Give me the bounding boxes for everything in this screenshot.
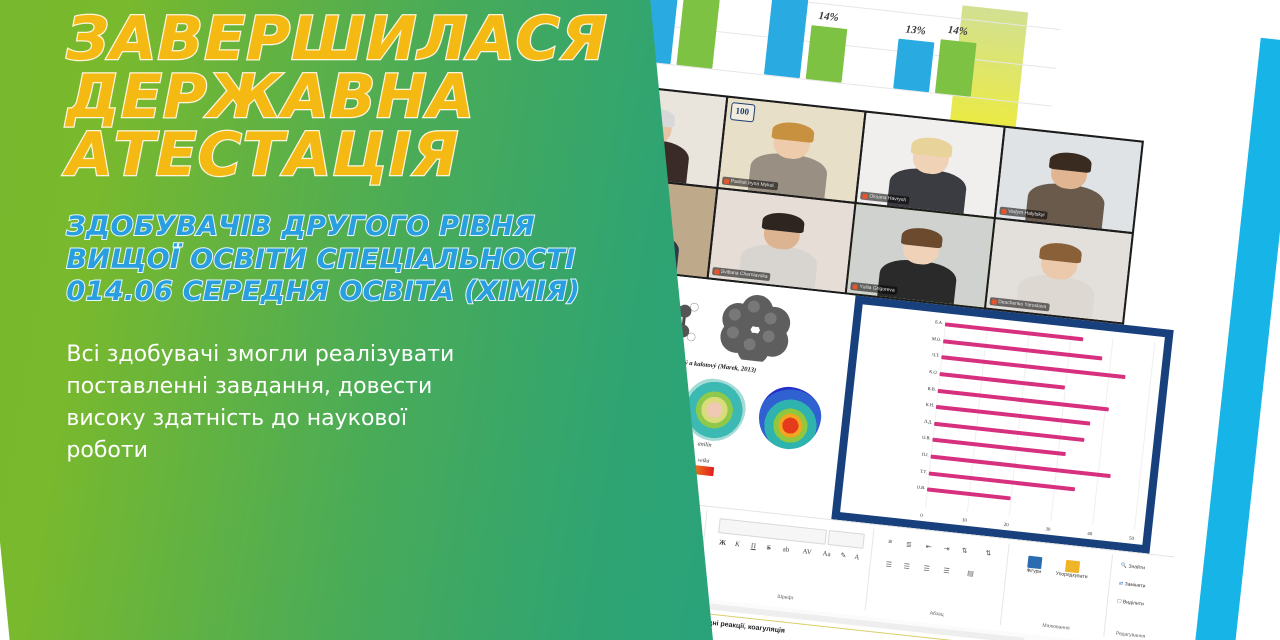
x-gridline	[1134, 342, 1155, 530]
molecule-label-2: anilin	[697, 441, 712, 448]
ribbon-group-drawing: Фігури Упорядкувати Малювання	[1008, 544, 1113, 636]
bar-category-label: О.В.	[853, 427, 931, 440]
bar-category-label: Б.А.	[865, 312, 943, 325]
bar-category-label: П.І.	[851, 444, 929, 457]
horizontal-bar-chart: 01020304050Б.А.М.О.Ч.Т.К.О.В.В.К.Н.Л.Д.О…	[840, 304, 1165, 545]
subhead-line-2: ВИЩОЇ ОСВІТИ СПЕЦІАЛЬНОСТІ	[66, 244, 626, 277]
find-button[interactable]: 🔍 Знайти	[1121, 564, 1155, 573]
poster-canvas: 31%14%13%14% 10%20%30% Kocher100Pavliuk …	[0, 0, 1280, 640]
x-tick-0: 0	[920, 514, 923, 519]
x-gridline	[1092, 338, 1113, 526]
arrange-button[interactable]: Упорядкувати	[1051, 558, 1093, 581]
bar-value-label: 13%	[905, 24, 926, 38]
replace-button[interactable]: ⇄ Замінити	[1119, 582, 1153, 591]
ribbon-group-paragraph: ≡ ≣ ⇤ ⇥ ⇅ ☰ ☰ ☰ ☰ ▤ ⇅ Абзац	[873, 530, 1010, 625]
shapes-button[interactable]: Фігури	[1020, 555, 1050, 577]
font-size-select[interactable]	[827, 530, 864, 549]
anniversary-logo-icon: 100	[729, 102, 755, 122]
bar-Зелений-2	[935, 40, 977, 97]
benzene-space-fill-icon	[717, 291, 794, 364]
bar-value-label: 14%	[818, 10, 839, 24]
page-body-text: Всі здобувачі змогли реалізуватипоставле…	[66, 339, 536, 467]
x-gridline	[925, 319, 946, 507]
text-shadow-button[interactable]: ab	[782, 545, 789, 554]
bar-category-label: К.О.	[860, 361, 938, 374]
editing-group-label: Редагування	[1111, 630, 1149, 640]
green-title-panel: ЗАВЕРШИЛАСЯДЕРЖАВНААТЕСТАЦІЯ ЗДОБУВАЧІВ …	[0, 0, 714, 640]
page-subtitle: ЗДОБУВАЧІВ ДРУГОГО РІВНЯВИЩОЇ ОСВІТИ СПЕ…	[66, 211, 626, 310]
strikethrough-button[interactable]: S	[766, 543, 771, 551]
poster-text-block: ЗАВЕРШИЛАСЯДЕРЖАВНААТЕСТАЦІЯ ЗДОБУВАЧІВ …	[66, 10, 626, 640]
text-highlight-button[interactable]: ✎	[840, 551, 847, 560]
align-left-icon[interactable]: ☰	[885, 560, 892, 569]
x-gridline	[967, 324, 988, 512]
underline-button[interactable]: П	[751, 542, 757, 550]
horizontal-bar-7	[932, 438, 1066, 456]
bodytext-line-3: високу здатність до наукової	[66, 403, 536, 435]
bar-Синій-2	[893, 39, 934, 92]
align-center-icon[interactable]: ☰	[903, 562, 910, 571]
text-direction-icon[interactable]: ⇅	[985, 549, 992, 558]
video-tile-7[interactable]: Yuliia Grigoreva	[847, 204, 993, 308]
horizontal-bar-1	[943, 339, 1102, 360]
bullets-icon[interactable]: ≡	[888, 538, 893, 545]
page-title: ЗАВЕРШИЛАСЯДЕРЖАВНААТЕСТАЦІЯ	[66, 10, 626, 185]
subhead-line-1: ЗДОБУВАЧІВ ДРУГОГО РІВНЯ	[66, 211, 626, 244]
replace-icon: ⇄	[1119, 581, 1124, 587]
bar-category-label: Т.Т.	[849, 461, 927, 474]
bar-category-label: К.Н.	[856, 394, 934, 407]
justify-icon[interactable]: ☰	[943, 567, 950, 576]
horizontal-bar-3	[939, 372, 1065, 390]
bar-value-label: 14%	[947, 24, 968, 38]
subhead-line-3: 014.06 СЕРЕДНЯ ОСВІТА (ХІМІЯ)	[66, 276, 626, 309]
bodytext-line-1: Всі здобувачі змогли реалізувати	[66, 339, 536, 371]
x-gridline	[1009, 328, 1030, 516]
bodytext-line-2: поставленні завдання, довести	[66, 371, 536, 403]
scale-label-large: velká	[698, 457, 710, 464]
numbering-icon[interactable]: ≣	[906, 540, 913, 549]
select-icon: ☐	[1117, 599, 1122, 605]
headline-line-2: ДЕРЖАВНА	[66, 68, 626, 126]
headline-line-3: АТЕСТАЦІЯ	[66, 126, 626, 184]
video-tile-6[interactable]: Svitlana Cherniavska	[708, 189, 854, 293]
x-tick-20: 20	[1003, 523, 1009, 529]
headline-line-1: ЗАВЕРШИЛАСЯ	[66, 10, 626, 68]
drawing-group-label: Малювання	[1008, 619, 1104, 635]
italic-button[interactable]: К	[735, 540, 740, 548]
video-tile-2[interactable]: 100Pavliuk Iryna Mykol.	[718, 98, 864, 202]
video-tile-3[interactable]: Oksana Havrysh	[857, 113, 1003, 217]
decrease-indent-icon[interactable]: ⇤	[925, 543, 932, 552]
cyan-accent-strip	[1168, 0, 1280, 640]
bar-Зелений-1	[806, 26, 848, 83]
paragraph-group-label: Абзац	[873, 604, 1001, 624]
horizontal-bar-chart-slide: 01020304050Б.А.М.О.Ч.Т.К.О.В.В.К.Н.Л.Д.О…	[831, 296, 1173, 554]
horizontal-bar-6	[934, 422, 1085, 442]
search-icon: 🔍	[1121, 563, 1128, 570]
ribbon-group-editing: 🔍 Знайти ⇄ Замінити ☐ Виділити Редагуван…	[1111, 556, 1158, 640]
font-color-button[interactable]: A	[854, 553, 860, 561]
character-spacing-button[interactable]: AV	[802, 547, 812, 556]
select-button[interactable]: ☐ Виділити	[1117, 600, 1151, 609]
video-tile-4[interactable]: Vadym Halytskyi	[995, 128, 1141, 232]
align-right-icon[interactable]: ☰	[923, 564, 930, 573]
bar-category-label: В.В.	[858, 378, 936, 391]
columns-icon[interactable]: ▤	[967, 569, 974, 578]
horizontal-bar-0	[945, 322, 1083, 341]
bar-category-label: О.В.	[847, 477, 925, 490]
x-tick-10: 10	[962, 518, 968, 524]
horizontal-bar-9	[929, 471, 1076, 491]
line-spacing-icon[interactable]: ⇅	[961, 546, 968, 555]
x-tick-50: 50	[1129, 536, 1135, 542]
bodytext-line-4: роботи	[66, 435, 536, 467]
bar-category-label: Ч.Т.	[862, 345, 940, 358]
bold-button[interactable]: Ж	[719, 538, 727, 547]
esp-surface-4	[756, 384, 824, 452]
x-tick-40: 40	[1087, 532, 1093, 538]
ribbon-group-font: Ж К П S ab AV Aa ✎ A A Шрифт	[706, 512, 875, 611]
bar-category-label: М.О.	[864, 328, 942, 341]
horizontal-bar-5	[936, 405, 1091, 426]
change-case-button[interactable]: Aa	[822, 549, 831, 558]
bar-category-label: Л.Д.	[855, 411, 933, 424]
video-tile-8[interactable]: Deschenko Yaroslava	[986, 219, 1132, 323]
x-gridline	[1050, 333, 1071, 521]
increase-indent-icon[interactable]: ⇥	[943, 545, 950, 554]
x-tick-30: 30	[1045, 527, 1051, 533]
